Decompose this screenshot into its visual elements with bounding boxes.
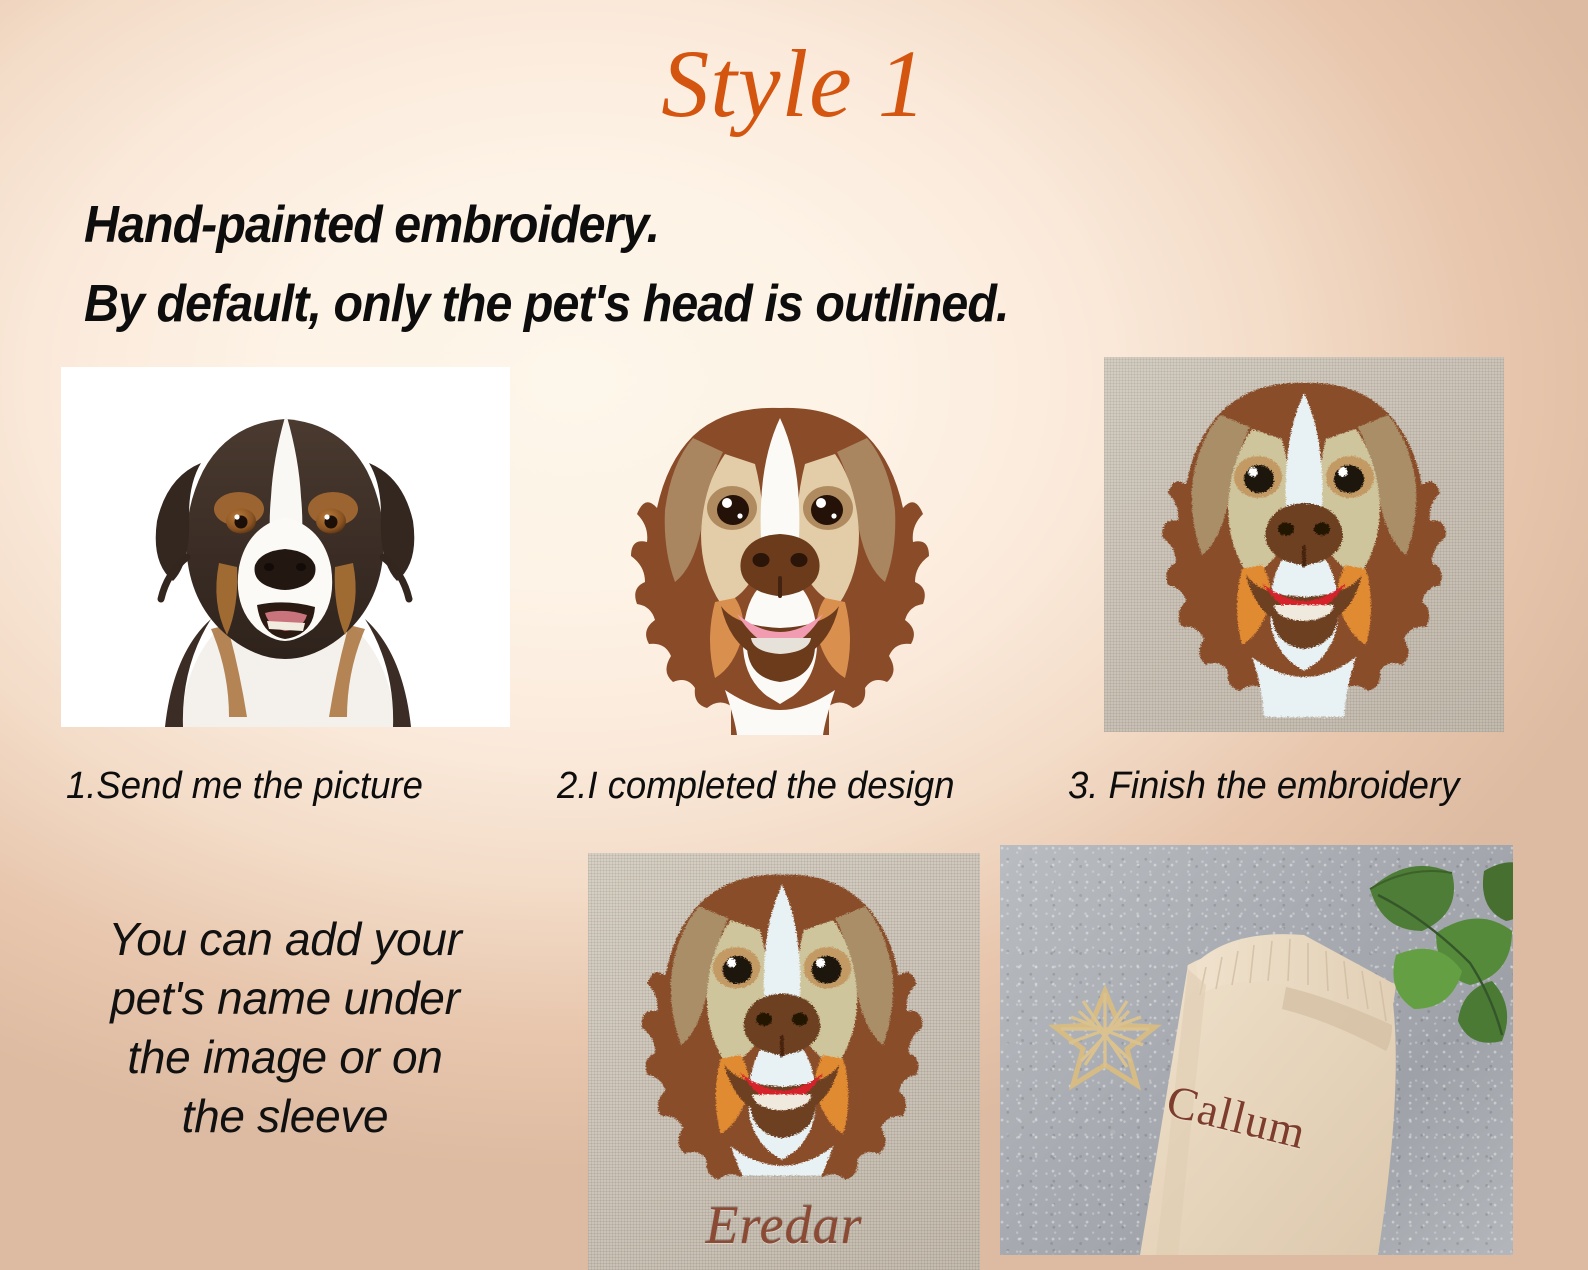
dog-photo-illustration [61, 367, 510, 727]
illustration-vector-dog-design [575, 390, 985, 735]
dog-vector-illustration [575, 390, 985, 735]
photo-embroidery-with-name: Eredar [588, 853, 980, 1270]
step-1-caption: 1.Send me the picture [66, 766, 423, 808]
photo-embroidered-dog-patch [1104, 357, 1504, 732]
photo-sleeve-with-name: Callum [1000, 845, 1513, 1255]
personalization-note: You can add your pet's name under the im… [35, 910, 535, 1146]
photo-customer-dog-original [61, 367, 510, 727]
note-line-1: You can add your [35, 910, 535, 969]
intro-line-2: By default, only the pet's head is outli… [84, 265, 1181, 344]
sleeve-scene-illustration [1000, 845, 1513, 1255]
page-title: Style 1 [0, 36, 1588, 132]
embroidery-with-name-illustration [588, 853, 980, 1183]
intro-text: Hand-painted embroidery. By default, onl… [84, 186, 1181, 344]
style-1-promo-page: Style 1 Hand-painted embroidery. By defa… [0, 0, 1588, 1270]
note-line-2: pet's name under [35, 969, 535, 1028]
intro-line-1: Hand-painted embroidery. [84, 186, 1181, 265]
note-line-4: the sleeve [35, 1087, 535, 1146]
step-3-caption: 3. Finish the embroidery [1068, 766, 1459, 808]
step-2-caption: 2.I completed the design [557, 766, 955, 808]
embroidery-patch-illustration [1104, 357, 1504, 732]
embroidered-pet-name-eredar: Eredar [588, 1194, 980, 1256]
note-line-3: the image or on [35, 1028, 535, 1087]
